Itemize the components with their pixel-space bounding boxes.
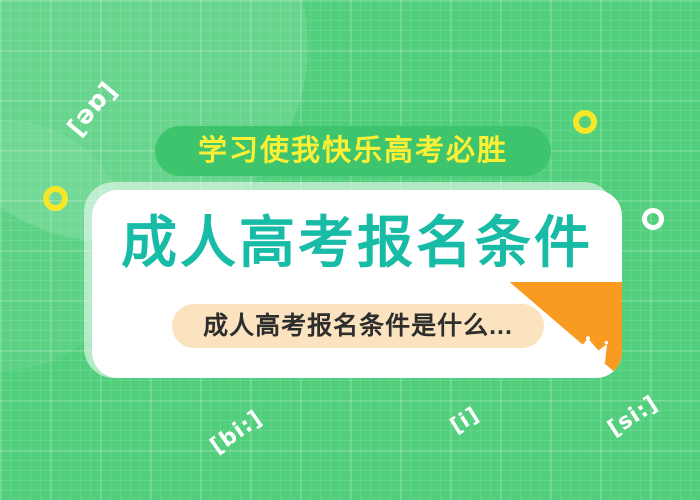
- phonetic-i-decoration: [i]: [446, 402, 484, 438]
- phonetic-si-decoration: [si:]: [604, 391, 663, 442]
- main-card: 成人高考报名条件 成人高考报名条件是什么...: [92, 190, 622, 378]
- subtitle-text: 成人高考报名条件是什么...: [203, 314, 513, 339]
- corner-badge: [510, 282, 622, 378]
- crown-icon: [568, 336, 608, 366]
- circle-outline-icon-yellow-top: [573, 110, 597, 134]
- circle-outline-icon-white-right: [642, 208, 664, 230]
- tagline-banner-text: 学习使我快乐高考必胜: [198, 137, 508, 166]
- phonetic-bi-decoration: [bi:]: [206, 406, 267, 459]
- page-title: 成人高考报名条件: [92, 216, 622, 272]
- circle-outline-icon-yellow-left: [43, 186, 68, 211]
- subtitle-pill: 成人高考报名条件是什么...: [172, 304, 544, 348]
- tagline-banner: 学习使我快乐高考必胜: [155, 126, 551, 176]
- poster-canvas: [ɑe] [bi:] [i] [si:] 学习使我快乐高考必胜 成人高考报名条件…: [0, 0, 700, 500]
